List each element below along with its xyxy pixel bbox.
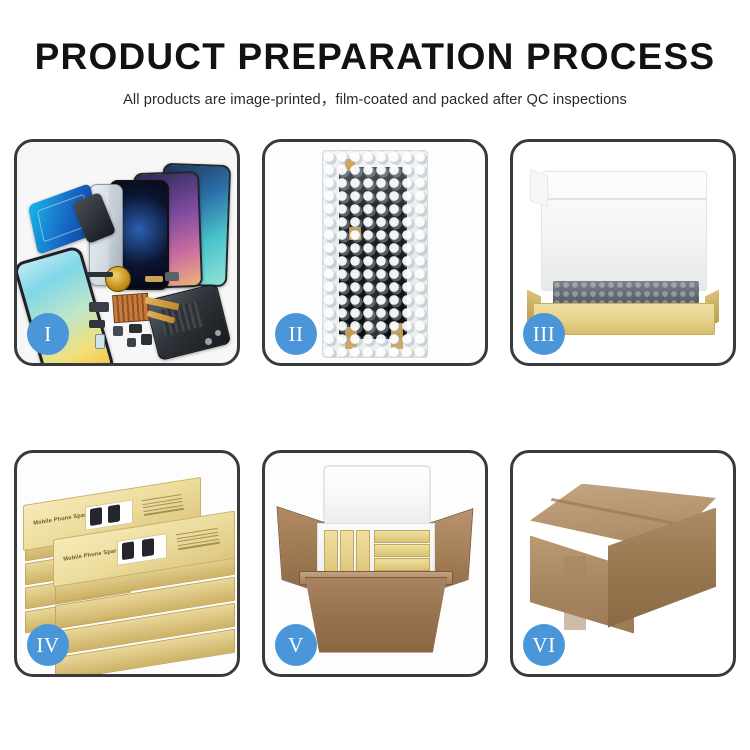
step-badge-5: V [275,624,317,666]
step-panel-5: V [262,450,488,677]
white-foam-lid [541,171,707,291]
yellow-box [374,558,430,571]
bubble-wrap-bag [322,150,428,358]
phone-thumb [142,538,154,557]
step-badge-2: II [275,313,317,355]
sealed-carton [530,484,716,644]
open-kraft-box [527,167,719,339]
tape-patch [564,556,586,576]
step-6-image: VI [513,453,733,674]
phone-thumb [122,541,134,560]
header: PRODUCT PREPARATION PROCESS All products… [0,0,750,109]
carton-front [305,577,447,653]
yellow-box [374,530,430,543]
spare-part [87,272,113,277]
bubble-texture [323,151,427,357]
charging-coil-icon [105,266,131,292]
step-badge-4: IV [27,624,69,666]
step-panel-2: II [262,139,488,366]
screw [215,330,221,336]
chip-board [112,293,150,323]
step-panel-4: Mobile Phone Spare Parts Mobile Phone Sp… [14,450,240,677]
step-badge-6: VI [523,624,565,666]
page-title: PRODUCT PREPARATION PROCESS [0,38,750,77]
phone-thumb [108,504,120,523]
yellow-box [374,544,430,557]
spare-part [145,276,163,282]
phone-back-housing [145,283,232,361]
page-subtitle: All products are image-printed，film-coat… [0,88,750,109]
spare-part [129,324,142,333]
spare-part [113,326,123,336]
step-3-image: III [513,142,733,363]
step-1-image: I [17,142,237,363]
step-badge-3: III [523,313,565,355]
spare-part [95,334,105,349]
spare-part [89,302,109,312]
process-steps-grid: I II [14,139,736,677]
step-panel-3: III [510,139,736,366]
tape-patch [564,610,586,630]
step-2-image: II [265,142,485,363]
phone-thumb [90,507,102,526]
step-panel-6: VI [510,450,736,677]
spare-part [89,320,105,328]
spare-part [165,272,179,281]
screw [205,338,212,345]
spare-part [141,334,152,345]
step-panel-1: I [14,139,240,366]
step-5-image: V [265,453,485,674]
spare-part [127,338,136,347]
step-badge-1: I [27,313,69,355]
step-4-image: Mobile Phone Spare Parts Mobile Phone Sp… [17,453,237,674]
infographic-page: PRODUCT PREPARATION PROCESS All products… [0,0,750,750]
